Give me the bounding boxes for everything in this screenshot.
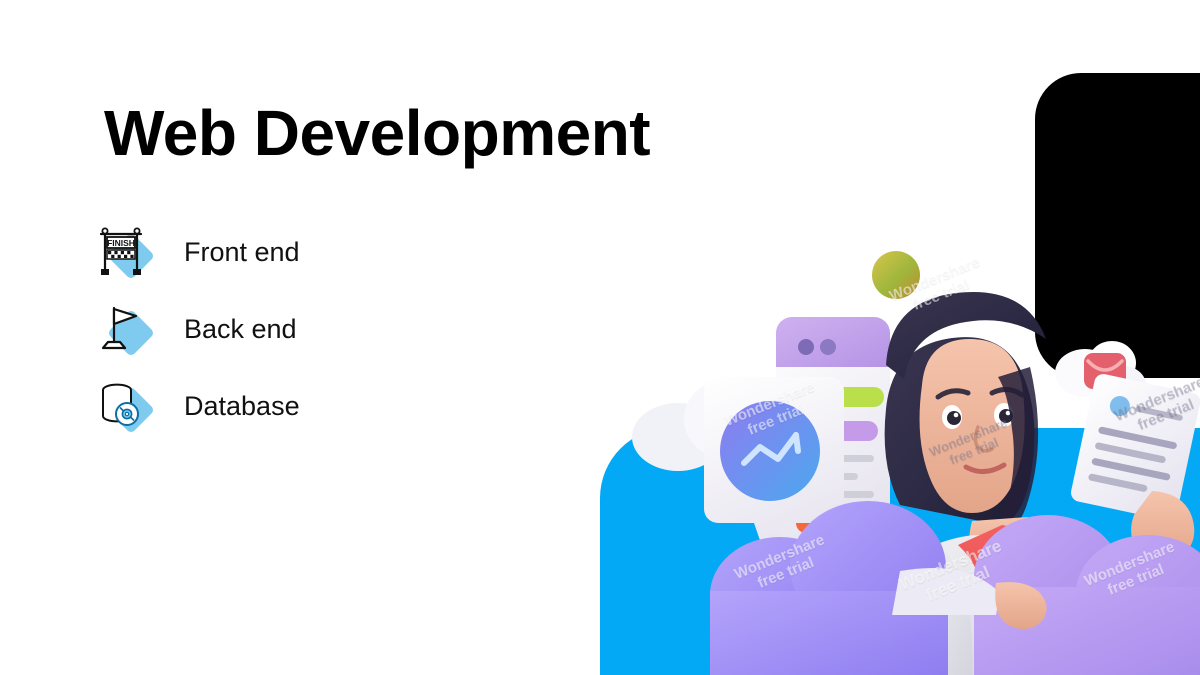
list-item-label: Back end bbox=[184, 314, 297, 345]
slide-canvas: Web Development FINISH bbox=[0, 0, 1200, 675]
list-item[interactable]: Back end bbox=[96, 291, 300, 368]
finish-line-icon: FINISH bbox=[96, 225, 158, 281]
list-item[interactable]: Database bbox=[96, 368, 300, 445]
page-title: Web Development bbox=[104, 100, 650, 167]
finish-line-glyph: FINISH bbox=[96, 225, 152, 277]
flag-glyph bbox=[96, 302, 152, 354]
database-disc-glyph bbox=[96, 379, 152, 431]
database-disc-icon bbox=[96, 379, 158, 435]
flag-icon bbox=[96, 302, 158, 358]
list-item[interactable]: FINISH Front end bbox=[96, 214, 300, 291]
list-item-label: Front end bbox=[184, 237, 300, 268]
illustration-svg bbox=[600, 195, 1200, 675]
list-item-label: Database bbox=[184, 391, 300, 422]
finish-label: FINISH bbox=[107, 238, 135, 248]
hero-illustration bbox=[600, 195, 1200, 675]
feature-list: FINISH Front end bbox=[96, 214, 300, 445]
